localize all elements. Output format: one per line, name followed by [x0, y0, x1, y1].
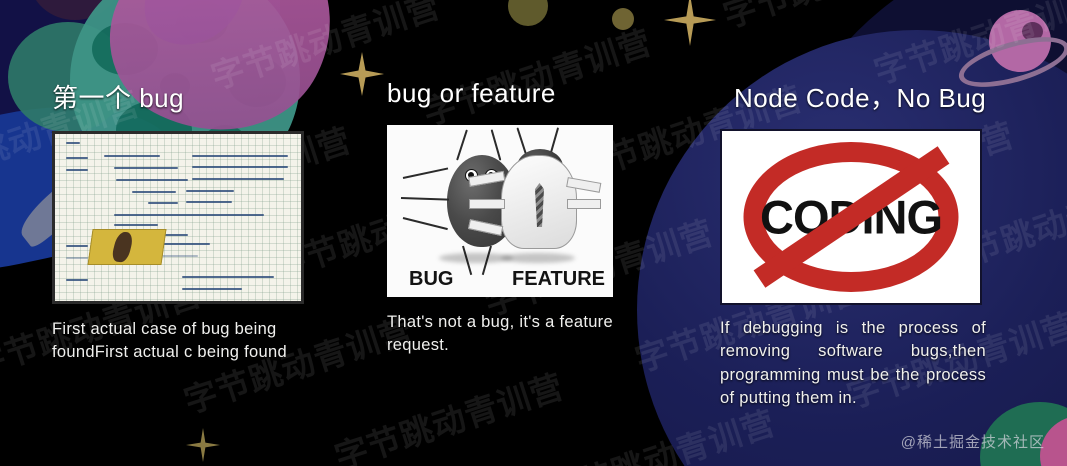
no-coding-image: CODING	[720, 129, 982, 305]
bug-feature-illustration: BUG FEATURE	[387, 125, 613, 297]
small-gold-dot-icon	[612, 8, 634, 30]
sparkle-star-icon	[664, 0, 716, 46]
card-caption: If debugging is the process of removing …	[720, 317, 986, 411]
bug-feature-image: BUG FEATURE	[387, 125, 613, 297]
bug-label: BUG	[409, 268, 453, 291]
card-title: Node Code，No Bug	[734, 78, 982, 115]
card-title: 第一个 bug	[52, 78, 312, 115]
slide-canvas: 字节跳动青训营字节跳动青训营字节跳动青训营字节跳动青训营字节跳动青训营字节跳动青…	[0, 0, 1067, 466]
card-caption: That's not a bug, it's a feature request…	[387, 311, 627, 358]
sparkle-star-icon	[340, 52, 384, 96]
gold-dot-shape	[508, 0, 548, 26]
feature-label: FEATURE	[512, 268, 605, 291]
logbook-image	[52, 131, 304, 304]
card-title: bug or feature	[387, 78, 617, 109]
card-bug-or-feature: bug or feature BUG	[387, 78, 617, 358]
prohibition-sign-icon: CODING	[744, 142, 959, 292]
logbook-border	[52, 131, 304, 304]
site-credit: @稀土掘金技术社区	[901, 431, 1045, 452]
card-first-bug: 第一个 bug	[52, 78, 312, 365]
sparkle-star-icon	[186, 428, 220, 462]
card-caption: First actual case of bug being foundFirs…	[52, 318, 314, 365]
card-no-code-no-bug: Node Code，No Bug CODING If debugging is …	[720, 78, 982, 411]
